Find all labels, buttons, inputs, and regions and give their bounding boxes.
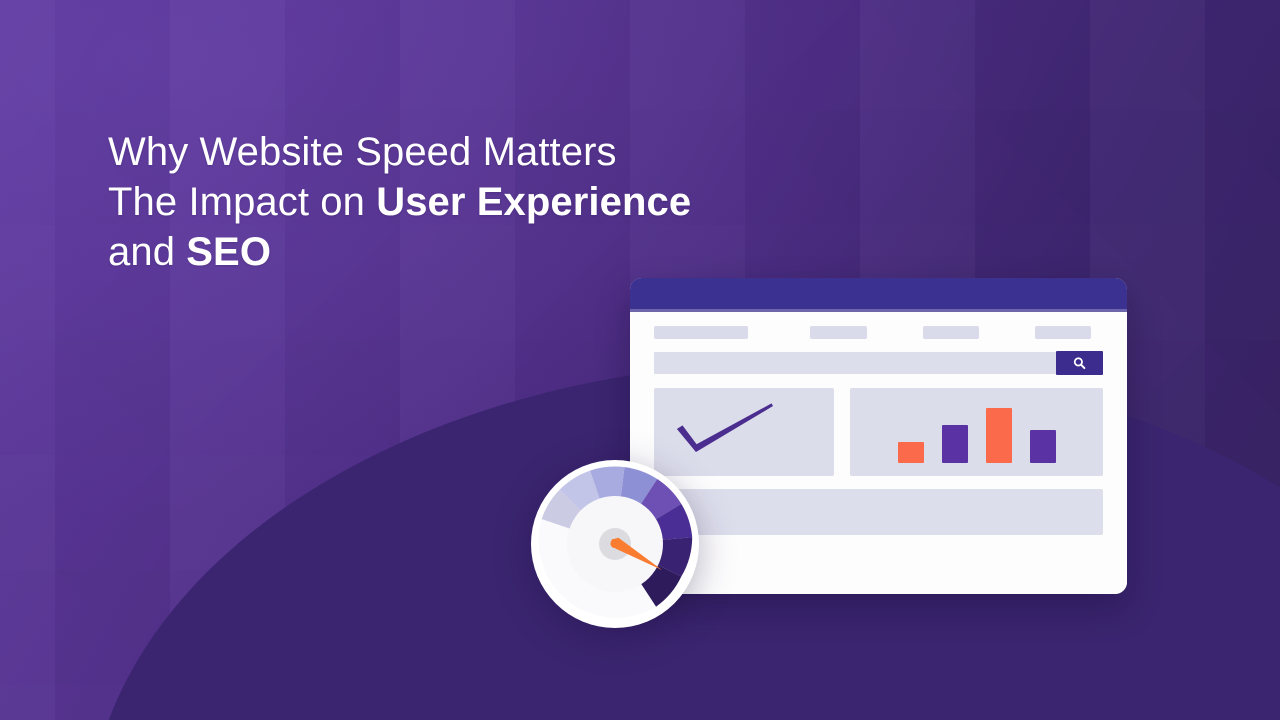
headline-line-3: and SEO <box>108 227 808 277</box>
bar-2 <box>942 425 968 463</box>
bar-3 <box>986 408 1012 463</box>
menu-item-3-placeholder[interactable] <box>1035 326 1091 339</box>
headline-line-2: The Impact on User Experience <box>108 177 808 227</box>
browser-nav-row <box>654 326 1103 339</box>
headline-line-1: Why Website Speed Matters <box>108 127 808 177</box>
banner-canvas: Why Website Speed Matters The Impact on … <box>0 0 1280 720</box>
browser-window-mockup <box>630 278 1127 594</box>
menu-item-1-placeholder[interactable] <box>810 326 867 339</box>
bar-1 <box>898 442 924 463</box>
headline-line-3-emphasis: SEO <box>186 230 271 274</box>
bar-chart <box>850 401 1103 463</box>
menu-item-2-placeholder[interactable] <box>923 326 979 339</box>
browser-titlebar <box>630 278 1127 312</box>
page-title: Why Website Speed Matters The Impact on … <box>108 127 808 277</box>
speedometer-gauge <box>529 458 701 630</box>
bar-chart-panel <box>850 388 1103 476</box>
browser-content-area <box>630 312 1127 594</box>
search-button[interactable] <box>1056 351 1103 375</box>
search-input[interactable] <box>654 352 1103 374</box>
browser-panels-row <box>654 388 1103 476</box>
headline-line-2-emphasis: User Experience <box>376 180 691 224</box>
content-placeholder-block <box>654 489 1103 535</box>
headline-line-2-plain: The Impact on <box>108 180 376 224</box>
logo-placeholder <box>654 326 748 339</box>
checkmark-icon <box>674 403 777 464</box>
bar-4 <box>1030 430 1056 463</box>
search-icon <box>1072 356 1087 371</box>
headline-line-3-plain: and <box>108 230 186 274</box>
